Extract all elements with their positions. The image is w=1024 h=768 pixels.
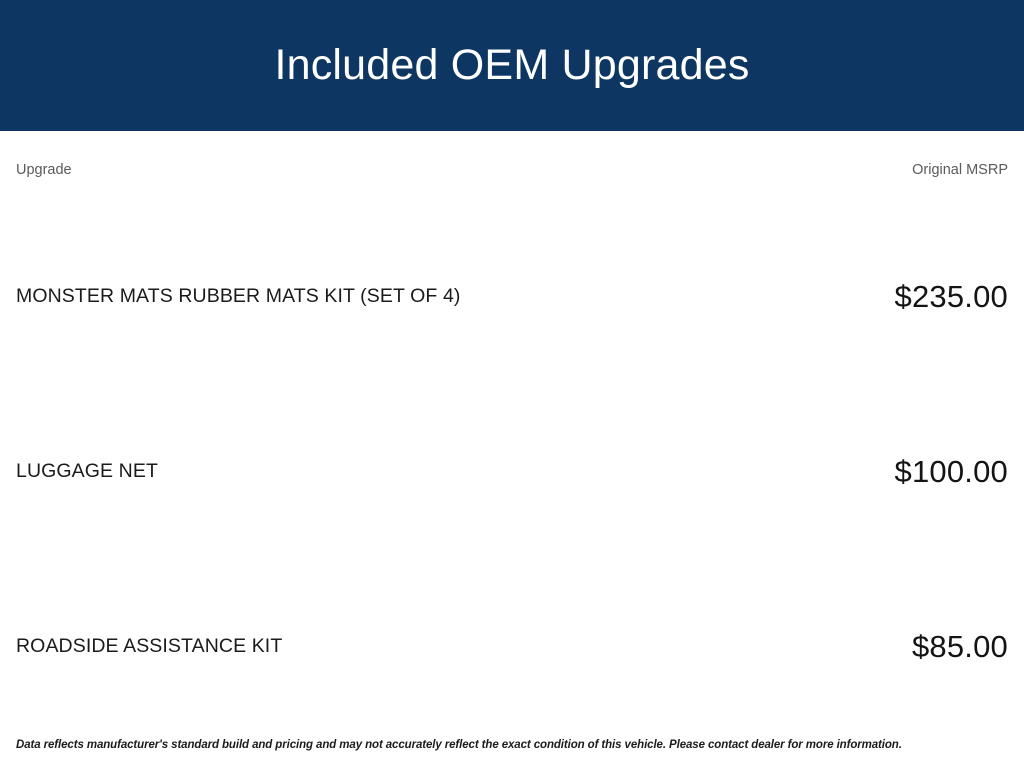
- table-row: LUGGAGE NET $100.00: [16, 384, 1008, 559]
- upgrades-table: Upgrade Original MSRP MONSTER MATS RUBBE…: [16, 131, 1008, 734]
- table-header-row: Upgrade Original MSRP: [16, 131, 1008, 209]
- page-title: Included OEM Upgrades: [274, 44, 749, 87]
- table-body: MONSTER MATS RUBBER MATS KIT (SET OF 4) …: [16, 209, 1008, 734]
- upgrade-msrp: $85.00: [631, 559, 1008, 734]
- disclaimer-text: Data reflects manufacturer's standard bu…: [0, 734, 1024, 768]
- column-header-upgrade: Upgrade: [16, 131, 631, 209]
- page-header-banner: Included OEM Upgrades: [0, 0, 1024, 131]
- table-header: Upgrade Original MSRP: [16, 131, 1008, 209]
- upgrades-table-container: Upgrade Original MSRP MONSTER MATS RUBBE…: [0, 131, 1024, 734]
- upgrade-msrp: $100.00: [631, 384, 1008, 559]
- upgrade-name: LUGGAGE NET: [16, 384, 631, 559]
- table-row: ROADSIDE ASSISTANCE KIT $85.00: [16, 559, 1008, 734]
- upgrade-name: ROADSIDE ASSISTANCE KIT: [16, 559, 631, 734]
- table-row: MONSTER MATS RUBBER MATS KIT (SET OF 4) …: [16, 209, 1008, 384]
- upgrade-name: MONSTER MATS RUBBER MATS KIT (SET OF 4): [16, 209, 631, 384]
- oem-upgrades-page: Included OEM Upgrades Upgrade Original M…: [0, 0, 1024, 768]
- upgrade-msrp: $235.00: [631, 209, 1008, 384]
- column-header-original-msrp: Original MSRP: [631, 131, 1008, 209]
